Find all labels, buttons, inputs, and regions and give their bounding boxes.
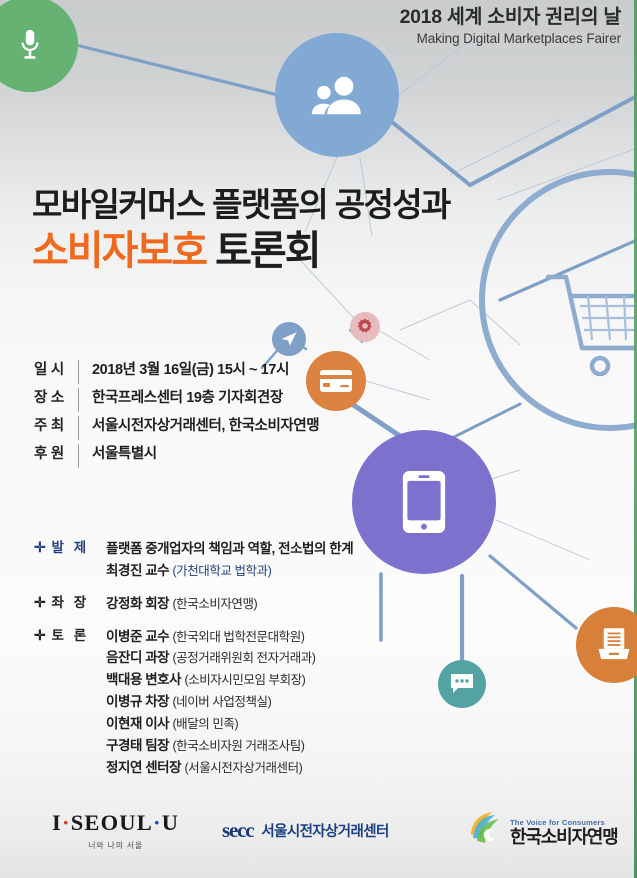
program-tag-chair: ✛ 좌 장 (34, 593, 106, 615)
info-row-date: 일시 2018년 3월 16일(금) 15시 ~ 17시 (34, 358, 319, 386)
chat-node (438, 660, 486, 708)
program-tag-presentation: ✛ 발 제 (34, 538, 106, 582)
panelist-name: 이병규 차장 (106, 694, 169, 709)
chair-entry: 강정화 회장 (한국소비자연맹) (106, 593, 353, 615)
panelist-name: 이병준 교수 (106, 629, 169, 644)
dot-red: · (62, 810, 71, 835)
list-item: 백대용 변호사 (소비자시민모임 부회장) (106, 669, 353, 691)
program-section: ✛ 발 제 플랫폼 중개업자의 책임과 역할, 전소법의 한계 최경진 교수 (… (34, 538, 353, 790)
info-value: 서울시전자상거래센터, 한국소비자연맹 (92, 414, 319, 435)
secc-wordmark: secc (222, 820, 253, 841)
list-item: 이병준 교수 (한국외대 법학전문대학원) (106, 626, 353, 648)
plus-icon: ✛ (34, 538, 46, 558)
kcf-english-name: The Voice for Consumers (510, 818, 618, 827)
info-row-sponsor: 후원 서울특별시 (34, 442, 319, 470)
chair-affiliation: (한국소비자연맹) (172, 597, 257, 611)
title-line-1: 모바일커머스 플랫폼의 공정성과 (32, 186, 450, 225)
document-icon (596, 627, 632, 663)
info-divider (78, 360, 79, 384)
panelist-affiliation: (서울시전자상거래센터) (184, 761, 302, 775)
speaker-name: 최경진 교수 (106, 563, 169, 578)
poster-title: 모바일커머스 플랫폼의 공정성과 소비자보호 토론회 (32, 186, 450, 273)
event-info-table: 일시 2018년 3월 16일(금) 15시 ~ 17시 장소 한국프레스센터 … (34, 358, 319, 470)
list-item: 정지연 센터장 (서울시전자상거래센터) (106, 757, 353, 779)
send-node (272, 322, 306, 356)
panelist-list: 이병준 교수 (한국외대 법학전문대학원) 음잔디 과장 (공정거래위원회 전자… (106, 626, 353, 779)
chat-icon (449, 672, 475, 696)
gear-icon (355, 317, 375, 337)
event-series-title: 2018 세계 소비자 권리의 날 (400, 5, 621, 29)
program-chair: ✛ 좌 장 강정화 회장 (한국소비자연맹) (34, 593, 353, 615)
title-highlight: 소비자보호 (32, 229, 206, 273)
panelist-name: 구경태 팀장 (106, 738, 169, 753)
panelist-name: 정지연 센터장 (106, 760, 181, 775)
letter-u: U (162, 810, 179, 835)
title-line-2: 소비자보호 토론회 (32, 229, 450, 273)
smartphone-icon (402, 471, 446, 533)
info-value: 한국프레스센터 19층 기자회견장 (92, 386, 283, 407)
panelist-affiliation: (한국소비자원 거래조사팀) (172, 739, 304, 753)
tag-label: 좌 장 (52, 593, 90, 613)
kcf-korean-name: 한국소비자연맹 (510, 828, 618, 846)
shopping-cart-icon (548, 277, 637, 374)
info-value: 2018년 3월 16일(금) 15시 ~ 17시 (92, 358, 289, 379)
kcf-emblem-icon (468, 809, 504, 847)
poster-canvas: 2018 세계 소비자 권리의 날 Making Digital Marketp… (0, 0, 637, 878)
list-item: 이병규 차장 (네이버 사업정책실) (106, 691, 353, 713)
list-item: 구경태 팀장 (한국소비자원 거래조사팀) (106, 735, 353, 757)
info-label: 주최 (34, 414, 78, 435)
speaker-affiliation: (가천대학교 법학과) (172, 564, 271, 578)
dot-blue: · (153, 810, 162, 835)
plus-icon: ✛ (34, 593, 46, 613)
tag-label: 토 론 (52, 626, 90, 646)
plus-icon: ✛ (34, 626, 46, 646)
panelist-affiliation: (소비자시민모임 부회장) (184, 673, 305, 687)
info-divider (78, 444, 79, 468)
gear-node (350, 312, 380, 342)
panelist-affiliation: (공정거래위원회 전자거래과) (172, 651, 315, 665)
panelist-name: 이현재 이사 (106, 716, 169, 731)
secc-name: 서울시전자상거래센터 (261, 820, 388, 841)
program-discussion: ✛ 토 론 이병준 교수 (한국외대 법학전문대학원) 음잔디 과장 (공정거래… (34, 626, 353, 779)
seoul-tagline: 너와 나의 서울 (52, 840, 179, 851)
info-divider (78, 416, 79, 440)
info-divider (78, 388, 79, 412)
word-seoul: SEOUL (71, 810, 153, 835)
info-row-host: 주최 서울시전자상거래센터, 한국소비자연맹 (34, 414, 319, 442)
panelist-name: 음잔디 과장 (106, 650, 169, 665)
credit-card-icon (320, 369, 352, 393)
logo-i-seoul-u: I·SEOUL·U 너와 나의 서울 (52, 812, 179, 851)
logo-secc: secc 서울시전자상거래센터 (222, 820, 389, 841)
list-item: 이현재 이사 (배달의 민족) (106, 713, 353, 735)
info-label: 일시 (34, 358, 78, 379)
program-presentation: ✛ 발 제 플랫폼 중개업자의 책임과 역할, 전소법의 한계 최경진 교수 (… (34, 538, 353, 582)
chair-name: 강정화 회장 (106, 596, 169, 611)
info-row-venue: 장소 한국프레스센터 19층 기자회견장 (34, 386, 319, 414)
people-node (275, 33, 399, 157)
send-icon (280, 330, 298, 348)
i-seoul-u-wordmark: I·SEOUL·U (52, 812, 179, 835)
presentation-topic: 플랫폼 중개업자의 책임과 역할, 전소법의 한계 (106, 538, 353, 560)
list-item: 음잔디 과장 (공정거래위원회 전자거래과) (106, 647, 353, 669)
event-series-subtitle: Making Digital Marketplaces Fairer (400, 31, 621, 46)
presentation-speaker: 최경진 교수 (가천대학교 법학과) (106, 560, 353, 582)
panelist-name: 백대용 변호사 (106, 672, 181, 687)
panelist-affiliation: (배달의 민족) (172, 717, 238, 731)
info-value: 서울특별시 (92, 442, 157, 463)
logo-kcf: The Voice for Consumers 한국소비자연맹 (468, 809, 618, 847)
info-label: 장소 (34, 386, 78, 407)
program-tag-discussion: ✛ 토 론 (34, 626, 106, 779)
people-icon (309, 73, 365, 117)
info-label: 후원 (34, 442, 78, 463)
letter-i: I (52, 810, 62, 835)
title-line-2-rest: 토론회 (215, 229, 319, 273)
tag-label: 발 제 (52, 538, 90, 558)
smartphone-node (352, 430, 496, 574)
footer-logos: I·SEOUL·U 너와 나의 서울 secc 서울시전자상거래센터 The V… (0, 800, 637, 866)
event-header: 2018 세계 소비자 권리의 날 Making Digital Marketp… (400, 5, 621, 46)
panelist-affiliation: (네이버 사업정책실) (172, 695, 271, 709)
microphone-icon (13, 24, 47, 64)
panelist-affiliation: (한국외대 법학전문대학원) (172, 630, 304, 644)
